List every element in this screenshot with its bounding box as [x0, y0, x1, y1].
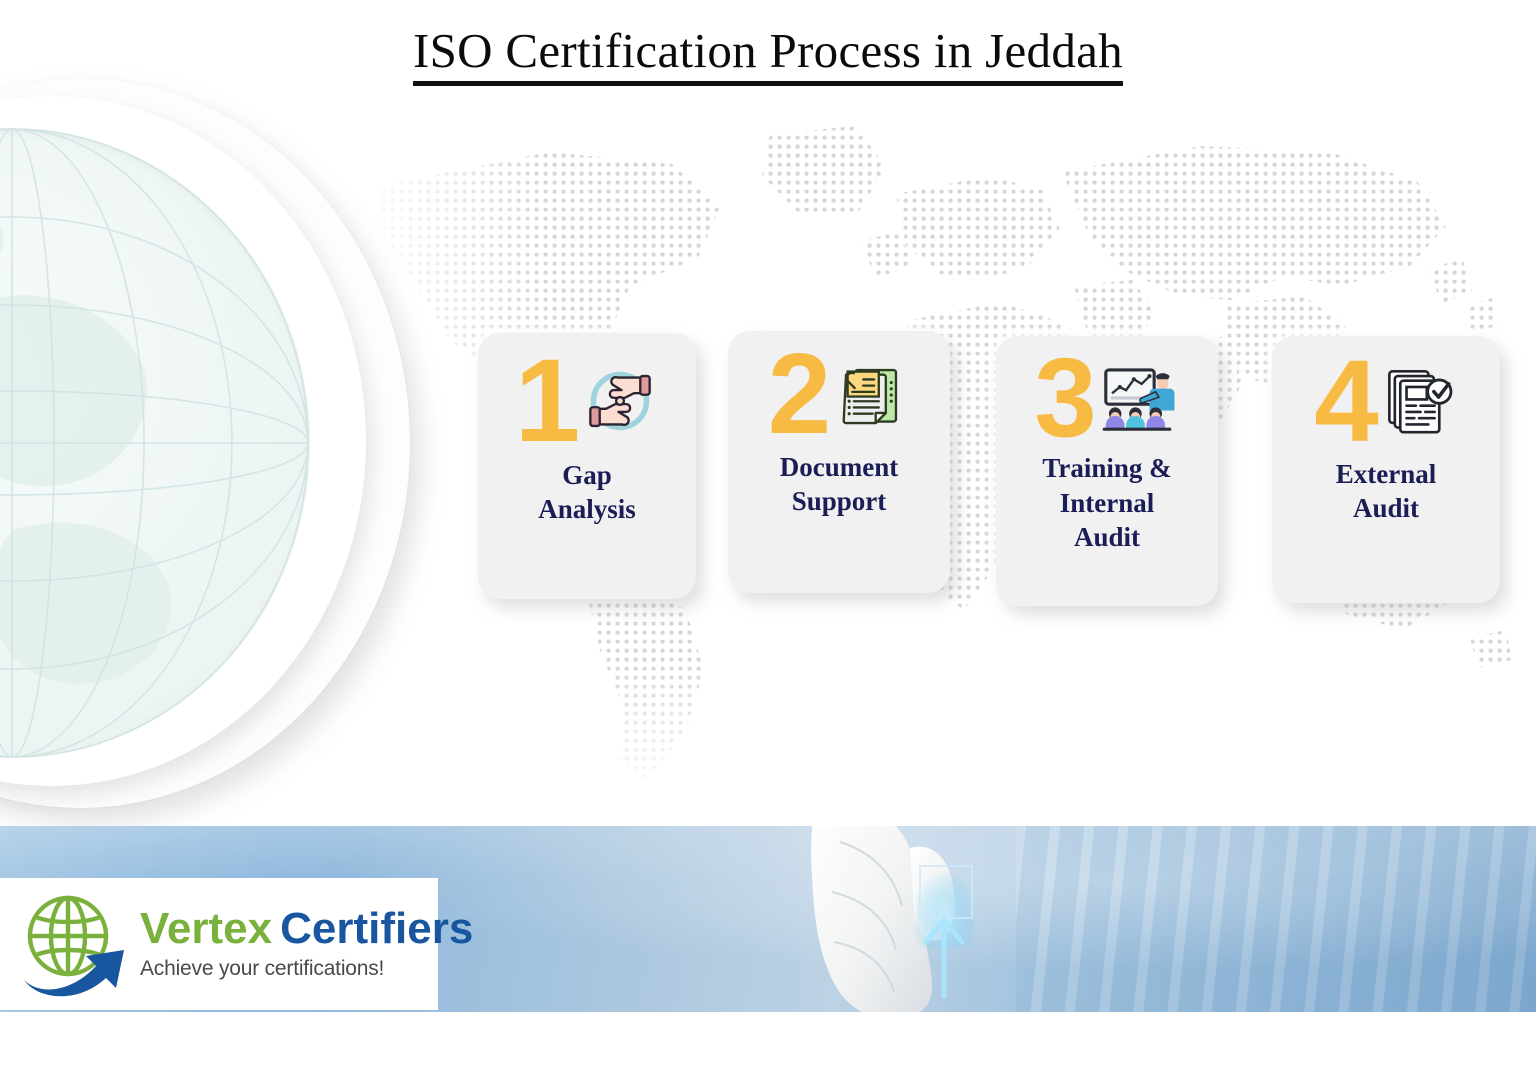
brand-tagline: Achieve your certifications!	[140, 957, 473, 981]
brand-name-first: Vertex	[140, 904, 272, 953]
map-bottom-fade	[300, 660, 1536, 840]
step-4-header: 4	[1272, 348, 1500, 455]
page-title-text: ISO Certification Process in Jeddah	[413, 22, 1123, 86]
brand-name: VertexCertifiers	[140, 907, 473, 951]
step-card-2[interactable]: 2	[728, 331, 950, 593]
step-2-header: 2	[728, 343, 950, 448]
step-1-label-line1: Gap	[538, 458, 636, 493]
step-2-label-line2: Support	[780, 484, 898, 519]
globe-arrow-logo-icon	[18, 888, 136, 1000]
handshake-collaboration-icon	[581, 362, 659, 440]
step-4-label-line2: Audit	[1336, 491, 1437, 526]
step-2-label: Document Support	[774, 450, 904, 519]
brand-logo-plate[interactable]: VertexCertifiers Achieve your certificat…	[0, 878, 438, 1010]
step-card-1[interactable]: 1 Gap Analysis	[478, 333, 696, 599]
step-4-label: External Audit	[1330, 457, 1443, 526]
step-3-label-line3: Audit	[1042, 520, 1171, 555]
step-1-header: 1	[478, 347, 696, 456]
step-card-4[interactable]: 4	[1272, 336, 1500, 603]
infographic-canvas: ISO Certification ISO Certification Proc…	[0, 0, 1536, 1086]
step-1-label-line2: Analysis	[538, 492, 636, 527]
brand-name-second: Certifiers	[280, 904, 473, 953]
step-2-number: 2	[768, 343, 828, 448]
step-2-label-line1: Document	[780, 450, 898, 485]
document-papers-icon	[832, 356, 910, 434]
step-3-label-line1: Training &	[1042, 451, 1171, 486]
globe-graphic-icon	[0, 128, 310, 758]
step-card-3[interactable]: 3	[996, 336, 1218, 606]
brand-text-block: VertexCertifiers Achieve your certificat…	[140, 907, 473, 981]
step-3-header: 3	[996, 346, 1218, 449]
step-4-label-line1: External	[1336, 457, 1437, 492]
training-presentation-icon	[1098, 359, 1176, 437]
step-3-number: 3	[1034, 346, 1093, 449]
step-3-label: Training & Internal Audit	[1036, 451, 1177, 555]
banner-light-streaks	[1016, 826, 1536, 1012]
step-4-number: 4	[1314, 348, 1376, 455]
hand-touching-arrow-graphic	[770, 826, 1070, 1012]
page-title: ISO Certification Process in Jeddah	[0, 22, 1536, 86]
badge-globe-panel: ISO Certification	[0, 128, 310, 758]
step-1-label: Gap Analysis	[532, 458, 642, 527]
step-3-label-line2: Internal	[1042, 486, 1171, 521]
step-1-number: 1	[515, 347, 578, 456]
documents-checkmark-icon	[1380, 362, 1458, 440]
